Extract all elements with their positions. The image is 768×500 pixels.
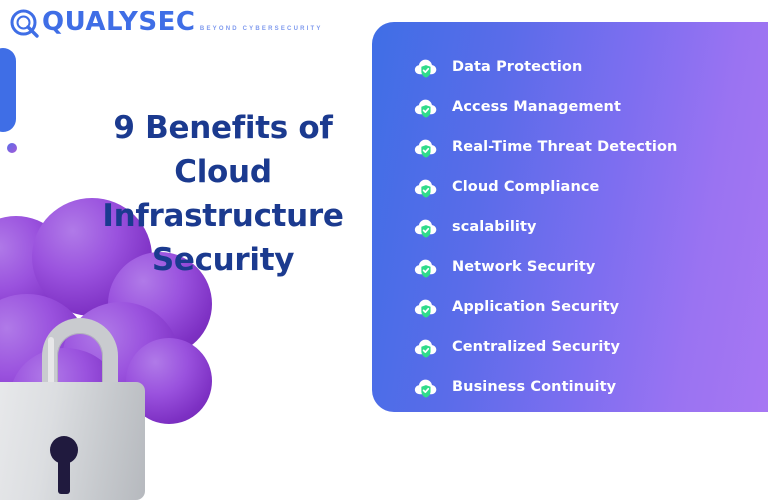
benefit-item: Network Security xyxy=(412,247,768,287)
cloud-shield-check-icon xyxy=(412,174,439,201)
benefit-label: Centralized Security xyxy=(452,339,620,355)
qualysec-target-q-icon xyxy=(10,9,40,39)
benefit-item: Centralized Security xyxy=(412,327,768,367)
benefit-item: Application Security xyxy=(412,287,768,327)
benefit-label: Cloud Compliance xyxy=(452,179,600,195)
padlock-illustration xyxy=(0,318,140,448)
padlock-keyhole-icon xyxy=(50,436,78,464)
cloud-shield-check-icon xyxy=(412,334,439,361)
benefit-item: Real-Time Threat Detection xyxy=(412,127,768,167)
benefit-label: Access Management xyxy=(452,99,621,115)
cloud-shield-check-icon xyxy=(412,374,439,401)
benefit-item: scalability xyxy=(412,207,768,247)
cloud-shield-check-icon xyxy=(412,54,439,81)
benefit-label: Business Continuity xyxy=(452,379,616,395)
benefit-label: Data Protection xyxy=(452,59,582,75)
cloud-shield-check-icon xyxy=(412,294,439,321)
cloud-shield-check-icon xyxy=(412,254,439,281)
cloud-shield-check-icon xyxy=(412,134,439,161)
benefit-label: Application Security xyxy=(452,299,619,315)
brand-logo[interactable]: QUALYSEC BEYOND CYBERSECURITY xyxy=(10,9,323,39)
cloud-shield-check-icon xyxy=(412,214,439,241)
benefit-label: Real-Time Threat Detection xyxy=(452,139,677,155)
decorative-blue-pill xyxy=(0,48,16,132)
decorative-purple-dot xyxy=(7,143,17,153)
brand-name: QUALYSEC xyxy=(42,7,195,37)
benefit-item: Access Management xyxy=(412,87,768,127)
benefit-label: scalability xyxy=(452,219,537,235)
benefit-label: Network Security xyxy=(452,259,595,275)
benefit-item: Business Continuity xyxy=(412,367,768,407)
cloud-shield-check-icon xyxy=(412,94,439,121)
brand-tagline: BEYOND CYBERSECURITY xyxy=(200,26,323,32)
page-title: 9 Benefits of Cloud Infrastructure Secur… xyxy=(78,106,368,282)
benefits-panel: Data Protection Access Management Real-T… xyxy=(372,22,768,412)
benefit-item: Cloud Compliance xyxy=(412,167,768,207)
benefit-item: Data Protection xyxy=(412,47,768,87)
